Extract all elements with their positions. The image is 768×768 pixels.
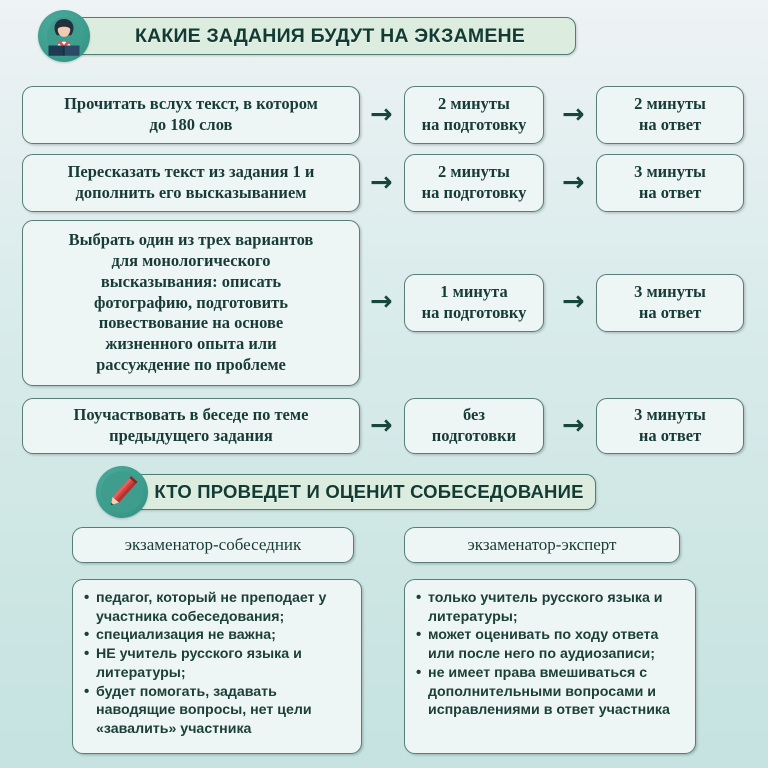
prep-box-4: без подготовки [404, 398, 544, 454]
prep-box-3: 1 минута на подготовку [404, 274, 544, 332]
arrow-icon-2a: → [370, 169, 393, 196]
answer-box-4: 3 минуты на ответ [596, 398, 744, 454]
task-text-2: Пересказать текст из задания 1 и дополни… [58, 162, 325, 204]
examiner-card-expert: только учитель русского языка и литерату… [404, 579, 696, 754]
answer-box-1: 2 минуты на ответ [596, 86, 744, 144]
prep-box-1: 2 минуты на подготовку [404, 86, 544, 144]
pencil-icon [96, 466, 148, 518]
infographic-page: КАКИЕ ЗАДАНИЯ БУДУТ НА ЭКЗАМЕНЕ Прочитат… [0, 0, 768, 768]
examiner-heading-expert: экзаменатор-эксперт [404, 527, 680, 563]
bullet-list-expert: только учитель русского языка и литерату… [415, 589, 683, 720]
arrow-icon-1a: → [370, 101, 393, 128]
task-box-4: Поучаствовать в беседе по теме предыдуще… [22, 398, 360, 454]
arrow-icon-2b: → [562, 169, 585, 196]
list-item: специализация не важна; [83, 626, 349, 645]
section-banner-who: КТО ПРОВЕДЕТ И ОЦЕНИТ СОБЕСЕДОВАНИЕ [96, 466, 596, 518]
answer-text-1: 2 минуты на ответ [624, 94, 716, 136]
arrow-icon-4a: → [370, 412, 393, 439]
answer-text-3: 3 минуты на ответ [624, 282, 716, 324]
banner-bar-exam: КАКИЕ ЗАДАНИЯ БУДУТ НА ЭКЗАМЕНЕ [68, 17, 576, 55]
task-text-3: Выбрать один из трех вариантов для монол… [59, 230, 324, 377]
arrow-icon-3b: → [562, 288, 585, 315]
answer-text-2: 3 минуты на ответ [624, 162, 716, 204]
prep-box-2: 2 минуты на подготовку [404, 154, 544, 212]
answer-box-2: 3 минуты на ответ [596, 154, 744, 212]
list-item: НЕ учитель русского языка и литературы; [83, 645, 349, 682]
task-text-1: Прочитать вслух текст, в котором до 180 … [54, 94, 328, 136]
list-item: педагог, который не преподает у участник… [83, 589, 349, 626]
section-title-exam: КАКИЕ ЗАДАНИЯ БУДУТ НА ЭКЗАМЕНЕ [135, 25, 525, 48]
arrow-icon-4b: → [562, 412, 585, 439]
prep-text-3: 1 минута на подготовку [412, 282, 537, 324]
prep-text-1: 2 минуты на подготовку [412, 94, 537, 136]
banner-bar-who: КТО ПРОВЕДЕТ И ОЦЕНИТ СОБЕСЕДОВАНИЕ [126, 474, 596, 510]
list-item: может оценивать по ходу ответа или после… [415, 626, 683, 663]
arrow-icon-3a: → [370, 288, 393, 315]
bullet-list-interviewer: педагог, который не преподает у участник… [83, 589, 349, 739]
answer-text-4: 3 минуты на ответ [624, 405, 716, 447]
task-box-3: Выбрать один из трех вариантов для монол… [22, 220, 360, 386]
examiner-card-interviewer: педагог, который не преподает у участник… [72, 579, 362, 754]
section-banner-exam: КАКИЕ ЗАДАНИЯ БУДУТ НА ЭКЗАМЕНЕ [38, 10, 576, 62]
prep-text-2: 2 минуты на подготовку [412, 162, 537, 204]
task-text-4: Поучаствовать в беседе по теме предыдуще… [64, 405, 319, 447]
list-item: только учитель русского языка и литерату… [415, 589, 683, 626]
list-item: не имеет права вмешиваться с дополнитель… [415, 664, 683, 720]
arrow-icon-1b: → [562, 101, 585, 128]
task-box-2: Пересказать текст из задания 1 и дополни… [22, 154, 360, 212]
section-title-who: КТО ПРОВЕДЕТ И ОЦЕНИТ СОБЕСЕДОВАНИЕ [154, 481, 583, 503]
list-item: будет помогать, задавать наводящие вопро… [83, 683, 349, 739]
task-box-1: Прочитать вслух текст, в котором до 180 … [22, 86, 360, 144]
answer-box-3: 3 минуты на ответ [596, 274, 744, 332]
prep-text-4: без подготовки [422, 405, 526, 447]
student-reading-icon [38, 10, 90, 62]
examiner-heading-interviewer: экзаменатор-собеседник [72, 527, 354, 563]
